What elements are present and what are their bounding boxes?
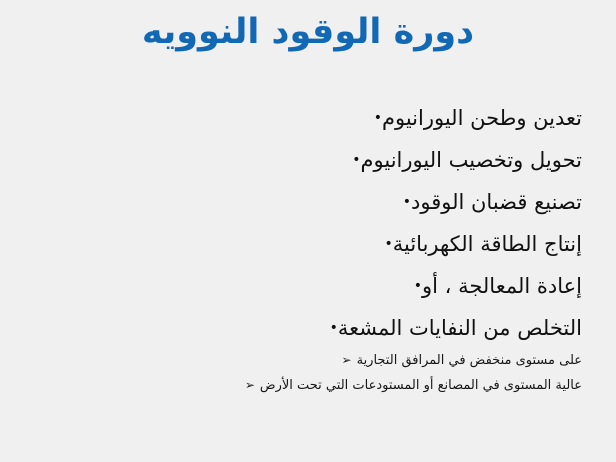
- arrow-bullet-icon: ➢: [342, 348, 352, 373]
- arrow-bullet-icon: ➢: [245, 373, 255, 398]
- bullet-dot-icon: •: [352, 139, 360, 181]
- list-item: إنتاج الطاقة الكهربائية•: [34, 222, 582, 264]
- page-title: دورة الوقود النوويه: [0, 8, 616, 56]
- sub-list-item: على مستوى منخفض في المرافق التجارية➢: [34, 348, 582, 373]
- sub-bullet-label: على مستوى منخفض في المرافق التجارية: [357, 348, 582, 373]
- sub-bullet-list: على مستوى منخفض في المرافق التجارية➢ عال…: [34, 348, 582, 398]
- bullet-label: تعدين وطحن اليورانيوم: [382, 97, 582, 139]
- slide-body: تعدين وطحن اليورانيوم• تحويل وتخصيب اليو…: [34, 96, 582, 398]
- sub-list-item: عالية المستوى في المصانع أو المستودعات ا…: [34, 373, 582, 398]
- sub-bullet-label: عالية المستوى في المصانع أو المستودعات ا…: [260, 373, 582, 398]
- main-bullet-list: تعدين وطحن اليورانيوم• تحويل وتخصيب اليو…: [34, 96, 582, 348]
- list-item: إعادة المعالجة ، أو•: [34, 264, 582, 306]
- bullet-label: التخلص من النفايات المشعة: [338, 307, 582, 349]
- bullet-dot-icon: •: [384, 223, 392, 265]
- bullet-dot-icon: •: [414, 265, 422, 307]
- list-item: تصنيع قضبان الوقود•: [34, 180, 582, 222]
- bullet-label: تحويل وتخصيب اليورانيوم: [361, 139, 582, 181]
- bullet-dot-icon: •: [330, 307, 338, 349]
- bullet-dot-icon: •: [403, 181, 411, 223]
- slide-canvas: دورة الوقود النوويه تعدين وطحن اليورانيو…: [0, 0, 616, 462]
- list-item: تعدين وطحن اليورانيوم•: [34, 96, 582, 138]
- bullet-label: تصنيع قضبان الوقود: [411, 181, 582, 223]
- list-item: التخلص من النفايات المشعة•: [34, 306, 582, 348]
- bullet-label: إعادة المعالجة ، أو: [422, 265, 582, 307]
- bullet-label: إنتاج الطاقة الكهربائية: [393, 223, 582, 265]
- list-item: تحويل وتخصيب اليورانيوم•: [34, 138, 582, 180]
- bullet-dot-icon: •: [374, 97, 382, 139]
